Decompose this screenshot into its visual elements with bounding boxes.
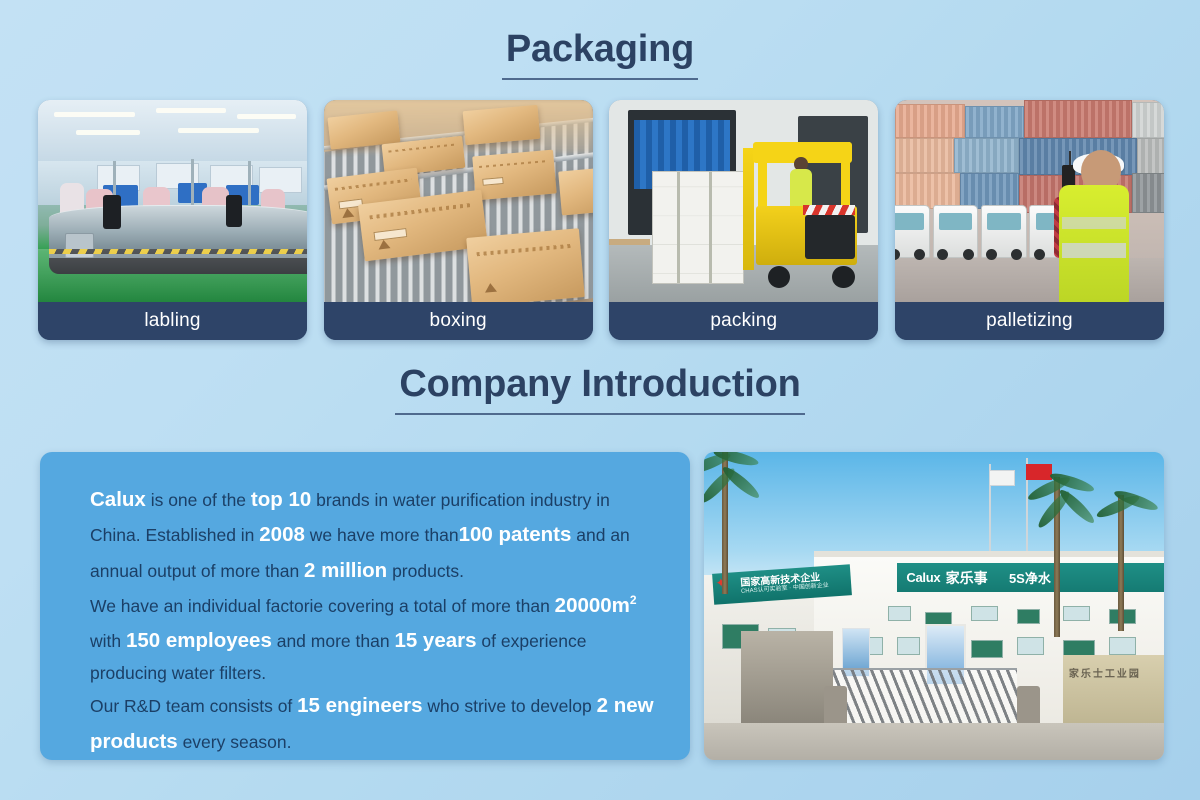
body-text-run: Our R&D team consists of [90,696,297,716]
company-description-paragraph: We have an individual factorie covering … [90,588,664,689]
boxes-on-conveyor-photo [324,100,593,302]
factory-labeling-line-photo [38,100,307,302]
packaging-card-caption: packing [609,302,878,340]
company-heading-inner: Company Introduction [399,365,800,415]
company-description-paragraph: Our R&D team consists of 15 engineers wh… [90,688,664,759]
packaging-section-heading: Packaging [0,30,1200,80]
company-section-heading: Company Introduction [0,365,1200,415]
company-heading-text: Company Introduction [399,363,800,405]
packaging-card-caption: labling [38,302,307,340]
heading-underline-rule [395,413,804,415]
pallet-of-boxes [652,171,743,284]
highlighted-stat: 100 patents [459,523,572,546]
packaging-heading-inner: Packaging [506,30,694,80]
forklift-loading-pallet-photo [609,100,878,302]
body-text-run: every season. [178,732,292,752]
company-introduction-block: Calux is one of the top 10 brands in wat… [40,452,1164,760]
body-text-run: we have more than [305,525,459,545]
packaging-card-caption: palletizing [895,302,1164,340]
company-description-paragraph: Calux is one of the top 10 brands in wat… [90,482,664,588]
signboard-brand: Calux [906,570,940,585]
packaging-card-palletizing[interactable]: palletizing [895,100,1164,340]
highlighted-stat: 20000m2 [555,594,637,617]
highlighted-stat: Calux [90,488,146,511]
body-text-run: is one of the [146,490,251,510]
body-text-run: who strive to develop [423,696,597,716]
body-text-run: We have an individual factorie covering … [90,596,555,616]
highlighted-stat: top 10 [251,488,311,511]
company-description-panel: Calux is one of the top 10 brands in wat… [40,452,690,760]
highlighted-stat: 15 engineers [297,694,422,717]
highlighted-stat: 15 years [394,629,476,652]
wall-text-cn: 家乐士工业园 [1069,665,1141,680]
packaging-card-labling[interactable]: labling [38,100,307,340]
packaging-card-boxing[interactable]: boxing [324,100,593,340]
signboard-brand-cn: 家乐事 [946,568,988,588]
packaging-heading-text: Packaging [506,28,694,70]
body-text-run: and more than [272,631,395,651]
highlighted-stat: 2008 [259,523,305,546]
packaging-card-list: labling boxing [38,100,1164,340]
packaging-card-caption: boxing [324,302,593,340]
highlighted-stat: 150 employees [126,629,272,652]
body-text-run: products. [387,561,464,581]
shipping-yard-worker-photo [895,100,1164,302]
superscript: 2 [630,593,637,607]
factory-gate [833,668,1017,723]
body-text-run: with [90,631,126,651]
highlighted-stat: 2 million [304,559,387,582]
heading-underline-rule [502,78,698,80]
calux-factory-building-photo: Calux 家乐事 5S净水 ✦ 国家高新技术企业 CHAS认可实验室 · 中国… [704,452,1164,760]
packaging-card-packing[interactable]: packing [609,100,878,340]
signboard-suffix: 5S净水 [1009,568,1051,587]
forklift-vehicle [736,142,860,287]
